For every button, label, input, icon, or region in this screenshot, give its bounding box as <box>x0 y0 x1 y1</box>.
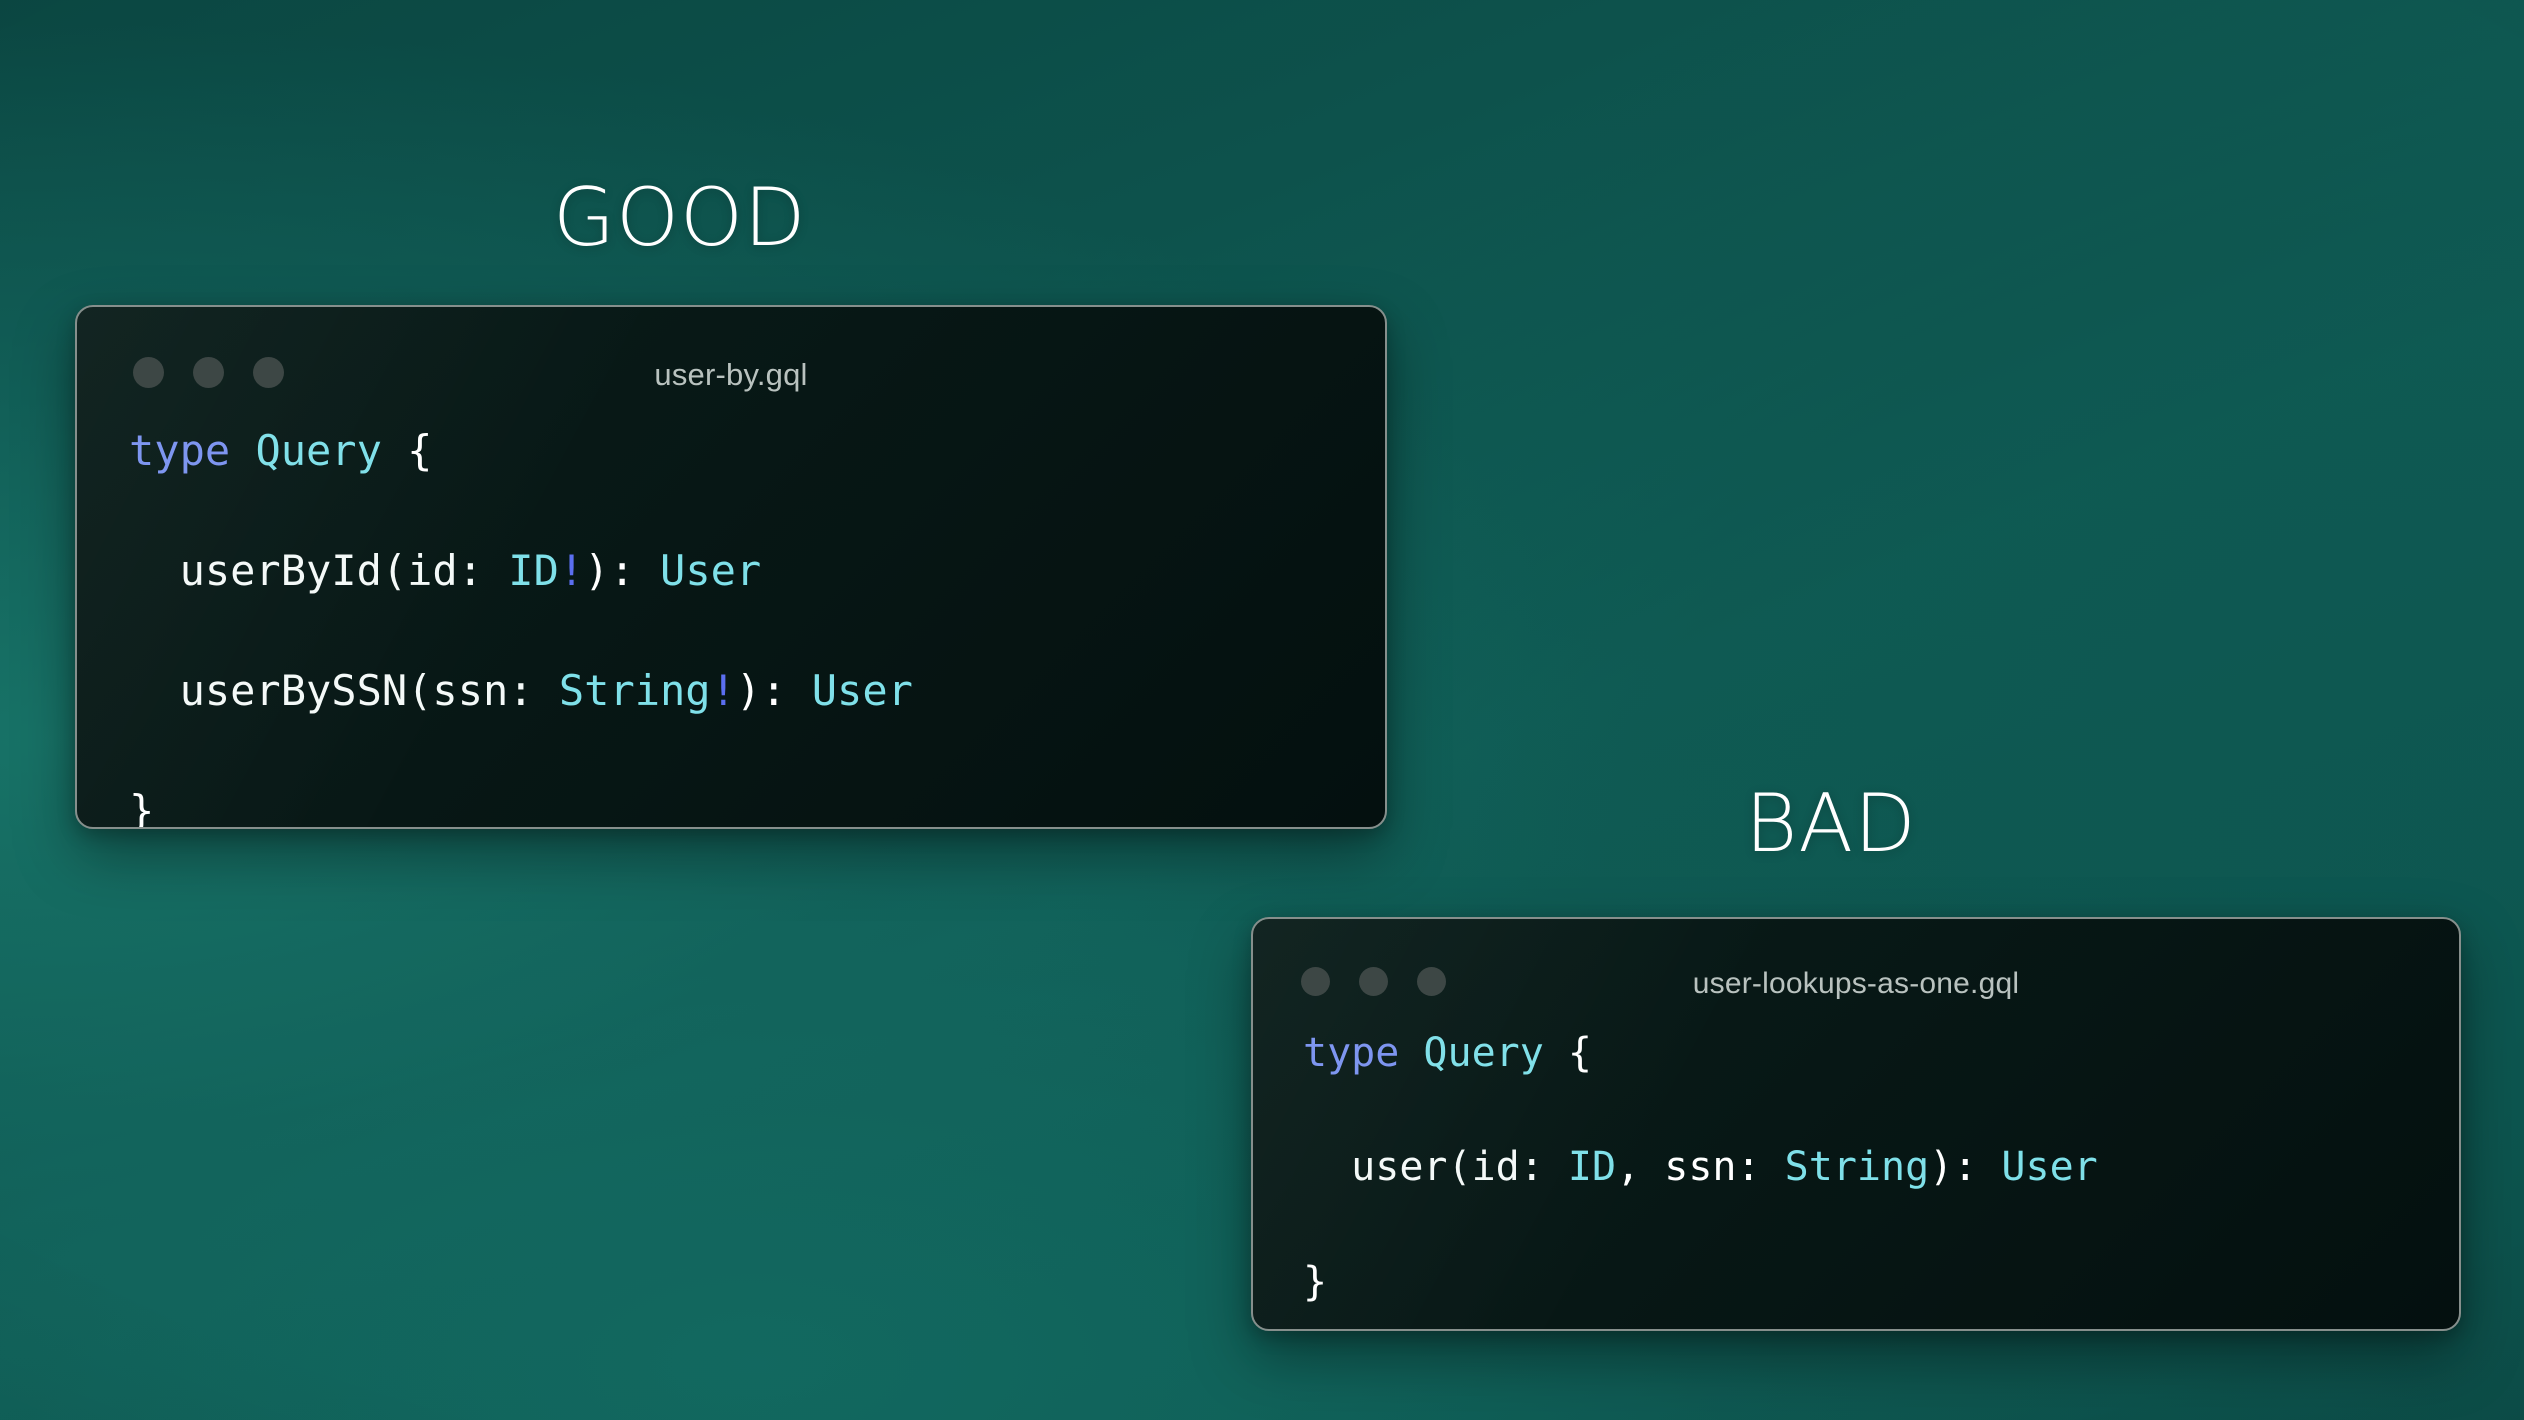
code-token: ): <box>1929 1144 2001 1190</box>
code-token: } <box>129 786 154 829</box>
code-token: { <box>382 426 433 475</box>
code-token: userById(id: <box>129 546 508 595</box>
window-title-good: user-by.gql <box>77 357 1385 393</box>
code-line: } <box>1303 1254 2459 1311</box>
code-token: ): <box>584 546 660 595</box>
window-title-bad: user-lookups-as-one.gql <box>1253 967 2459 1001</box>
code-token: ! <box>559 546 584 595</box>
code-token: ! <box>711 666 736 715</box>
code-token: , ssn: <box>1616 1144 1785 1190</box>
code-block-good: type Query { userById(id: ID!): User use… <box>129 421 1385 829</box>
code-token <box>230 426 255 475</box>
code-token: String <box>559 666 711 715</box>
code-token: ): <box>736 666 812 715</box>
code-token: ID <box>508 546 559 595</box>
code-token: type <box>129 426 230 475</box>
code-line: type Query { <box>1303 1025 2459 1082</box>
code-line: userBySSN(ssn: String!): User <box>129 661 1385 721</box>
code-token: String <box>1785 1144 1930 1190</box>
titlebar-bad: user-lookups-as-one.gql <box>1253 919 2459 1011</box>
code-token: user(id: <box>1303 1144 1568 1190</box>
code-token: type <box>1303 1030 1399 1076</box>
code-line: user(id: ID, ssn: String): User <box>1303 1139 2459 1196</box>
code-line: } <box>129 781 1385 829</box>
code-line: userById(id: ID!): User <box>129 541 1385 601</box>
section-label-good: GOOD <box>553 178 807 258</box>
code-token: Query <box>1423 1030 1543 1076</box>
code-token: } <box>1303 1259 1327 1305</box>
code-token: Query <box>255 426 381 475</box>
section-label-bad: BAD <box>1745 784 1917 864</box>
code-token: { <box>1544 1030 1592 1076</box>
code-token: User <box>660 546 761 595</box>
code-window-bad: user-lookups-as-one.gql type Query { use… <box>1251 917 2461 1331</box>
code-window-good: user-by.gql type Query { userById(id: ID… <box>75 305 1387 829</box>
code-token: User <box>812 666 913 715</box>
code-token: ID <box>1568 1144 1616 1190</box>
code-token: User <box>2001 1144 2097 1190</box>
titlebar-good: user-by.gql <box>77 307 1385 403</box>
code-block-bad: type Query { user(id: ID, ssn: String): … <box>1303 1025 2459 1311</box>
code-token: userBySSN(ssn: <box>129 666 559 715</box>
code-line: type Query { <box>129 421 1385 481</box>
code-token <box>1399 1030 1423 1076</box>
